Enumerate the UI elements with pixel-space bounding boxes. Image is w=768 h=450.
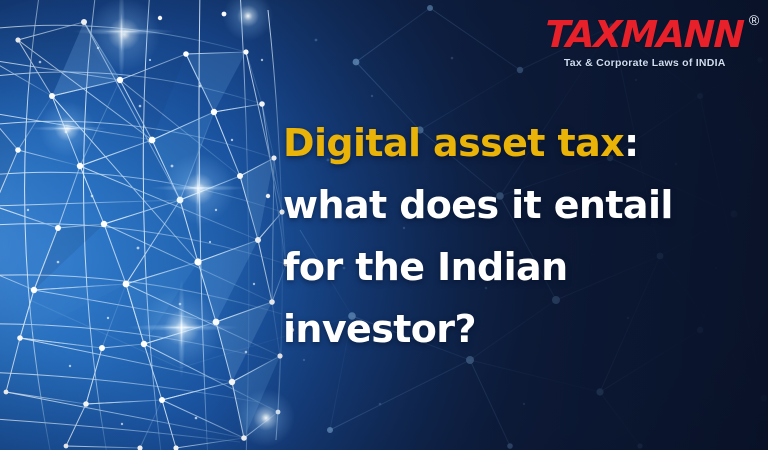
registered-trademark-icon: ® [748,13,759,27]
logo-tagline: Tax & Corporate Laws of INDIA [545,58,744,69]
headline-line-4: investor? [283,298,753,360]
headline-line-3: for the Indian [283,236,753,298]
headline-line-2: what does it entail [283,174,753,236]
logo-wordmark: TAXMANN [545,16,745,53]
taxmann-logo[interactable]: TAXMANN® Tax & Corporate Laws of INDIA [545,16,744,69]
headline-gold-text: Digital asset tax [283,121,624,165]
headline: Digital asset tax: what does it entail f… [283,112,753,360]
promo-banner: TAXMANN® Tax & Corporate Laws of INDIA D… [0,0,768,450]
headline-colon: : [624,121,639,165]
headline-line-1: Digital asset tax: [283,112,753,174]
